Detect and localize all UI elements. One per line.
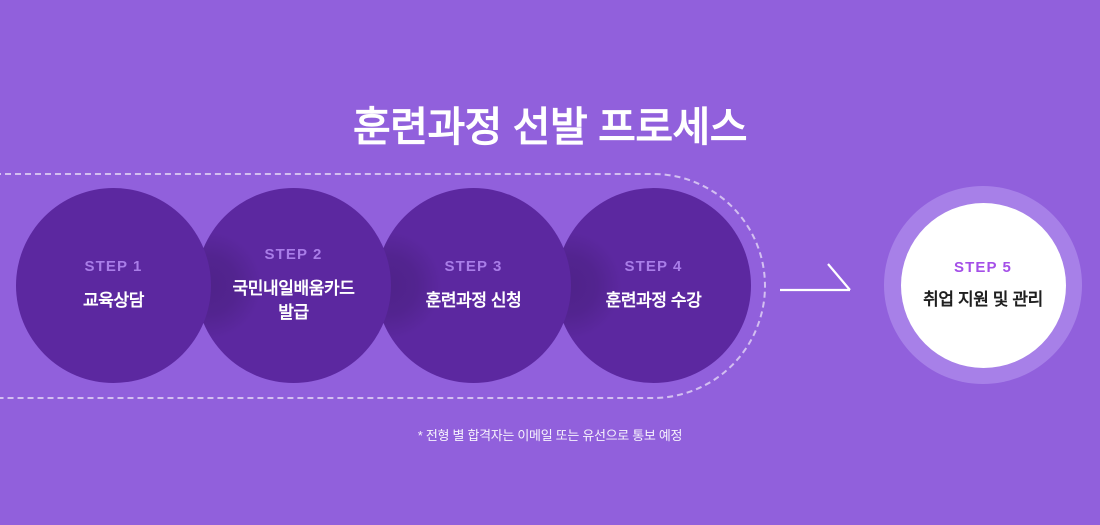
step-label-3: STEP 3 [444, 258, 502, 275]
step-circle-3[interactable]: STEP 3 훈련과정 신청 [376, 188, 571, 383]
step-label-2: STEP 2 [264, 246, 322, 263]
step-text-2: 국민내일배움카드 발급 [227, 277, 361, 325]
step-label-1: STEP 1 [84, 258, 142, 275]
step-text-3: 훈련과정 신청 [420, 289, 528, 313]
step-text-1: 교육상담 [77, 289, 150, 313]
step-circle-2[interactable]: STEP 2 국민내일배움카드 발급 [196, 188, 391, 383]
step-circle-5-inner: STEP 5 취업 지원 및 관리 [901, 203, 1066, 368]
step-text-5: 취업 지원 및 관리 [923, 288, 1043, 312]
step-circle-5[interactable]: STEP 5 취업 지원 및 관리 [884, 186, 1082, 384]
step-label-5: STEP 5 [954, 259, 1012, 276]
process-diagram: 훈련과정 선발 프로세스 STEP 1 교육상담 STEP 2 국민내일배움카드… [0, 0, 1100, 525]
step-circle-4[interactable]: STEP 4 훈련과정 수강 [556, 188, 751, 383]
page-title: 훈련과정 선발 프로세스 [0, 103, 1100, 152]
step-label-4: STEP 4 [624, 258, 682, 275]
step-circle-1[interactable]: STEP 1 교육상담 [16, 188, 211, 383]
arrow-right-icon [778, 258, 862, 302]
step-text-4: 훈련과정 수강 [600, 289, 708, 313]
footnote-text: * 전형 별 합격자는 이메일 또는 유선으로 통보 예정 [0, 425, 1100, 444]
